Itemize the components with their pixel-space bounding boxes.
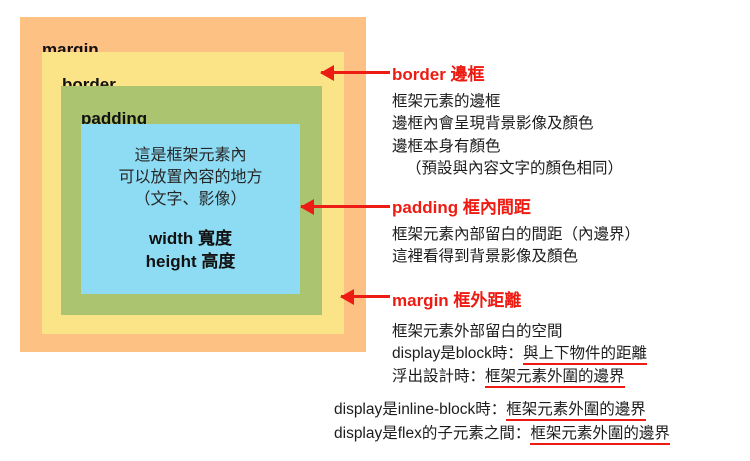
- annotation-margin-title: margin 框外距離: [392, 286, 750, 311]
- annotation-line: display是block時：與上下物件的距離: [392, 343, 750, 365]
- annotation-line: 邊框內會呈現背景影像及顏色: [392, 113, 750, 135]
- annotation-line-text: display是block時：: [392, 345, 523, 362]
- annotation-line-text: display是inline-block時：: [334, 401, 506, 418]
- annotation-padding-title: padding 框內間距: [392, 193, 750, 218]
- annotation-line: 這裡看得到背景影像及顏色: [392, 246, 750, 268]
- annotation-line-text: 框架元素外部留白的空間: [392, 323, 563, 340]
- annotation-line: 框架元素外部留白的空間: [392, 321, 750, 343]
- annotation-line-emphasis: 框架元素外圍的邊界: [485, 368, 625, 388]
- annotation-line: 邊框本身有顏色: [392, 136, 750, 158]
- arrow-to-padding-icon: [301, 205, 390, 208]
- arrow-to-border-icon: [321, 71, 390, 74]
- arrow-to-margin-icon: [341, 295, 390, 298]
- annotation-line: 框架元素的邊框: [392, 91, 750, 113]
- padding-layer: padding 這是框架元素內 可以放置內容的地方 （文字、影像） width …: [61, 86, 322, 315]
- annotation-line: （預設與內容文字的顏色相同）: [392, 158, 750, 180]
- annotation-line-text: display是flex的子元素之間：: [334, 425, 530, 442]
- annotation-border-lines: 框架元素的邊框 邊框內會呈現背景影像及顏色 邊框本身有顏色 （預設與內容文字的顏…: [392, 91, 750, 181]
- content-dimension-height: height 高度: [81, 250, 300, 273]
- content-description-line: 可以放置內容的地方: [81, 167, 300, 189]
- annotation-line-text: 浮出設計時：: [392, 368, 485, 385]
- annotation-padding: padding 框內間距 框架元素內部留白的間距（內邊界） 這裡看得到背景影像及…: [392, 193, 750, 269]
- annotation-line: display是flex的子元素之間：框架元素外圍的邊界: [334, 422, 750, 446]
- content-description-line: （文字、影像）: [81, 189, 300, 211]
- annotation-extra-lines: display是inline-block時：框架元素外圍的邊界 display是…: [334, 398, 750, 446]
- annotation-border-title: border 邊框: [392, 60, 750, 85]
- content-dimension-width: width 寬度: [81, 227, 300, 250]
- annotation-line: 浮出設計時：框架元素外圍的邊界: [392, 366, 750, 388]
- margin-layer: margin border padding 這是框架元素內 可以放置內容的地方 …: [20, 17, 366, 352]
- content-dimensions: width 寬度 height 高度: [81, 227, 300, 274]
- annotation-padding-lines: 框架元素內部留白的間距（內邊界） 這裡看得到背景影像及顏色: [392, 224, 750, 269]
- annotation-line-emphasis: 框架元素外圍的邊界: [530, 425, 670, 445]
- annotation-column: border 邊框 框架元素的邊框 邊框內會呈現背景影像及顏色 邊框本身有顏色 …: [392, 0, 750, 461]
- annotation-line-emphasis: 框架元素外圍的邊界: [506, 401, 646, 421]
- annotation-margin-lines: 框架元素外部留白的空間 display是block時：與上下物件的距離 浮出設計…: [392, 321, 750, 388]
- content-description: 這是框架元素內 可以放置內容的地方 （文字、影像）: [81, 145, 300, 211]
- annotation-line: 框架元素內部留白的間距（內邊界）: [392, 224, 750, 246]
- border-layer: border padding 這是框架元素內 可以放置內容的地方 （文字、影像）…: [42, 52, 344, 334]
- annotation-line-emphasis: 與上下物件的距離: [523, 345, 647, 365]
- content-layer: 這是框架元素內 可以放置內容的地方 （文字、影像） width 寬度 heigh…: [81, 124, 300, 294]
- content-description-line: 這是框架元素內: [81, 145, 300, 167]
- annotation-margin: margin 框外距離 框架元素外部留白的空間 display是block時：與…: [392, 286, 750, 388]
- box-model-diagram: margin border padding 這是框架元素內 可以放置內容的地方 …: [20, 17, 366, 352]
- annotation-line: display是inline-block時：框架元素外圍的邊界: [334, 398, 750, 422]
- annotation-border: border 邊框 框架元素的邊框 邊框內會呈現背景影像及顏色 邊框本身有顏色 …: [392, 60, 750, 181]
